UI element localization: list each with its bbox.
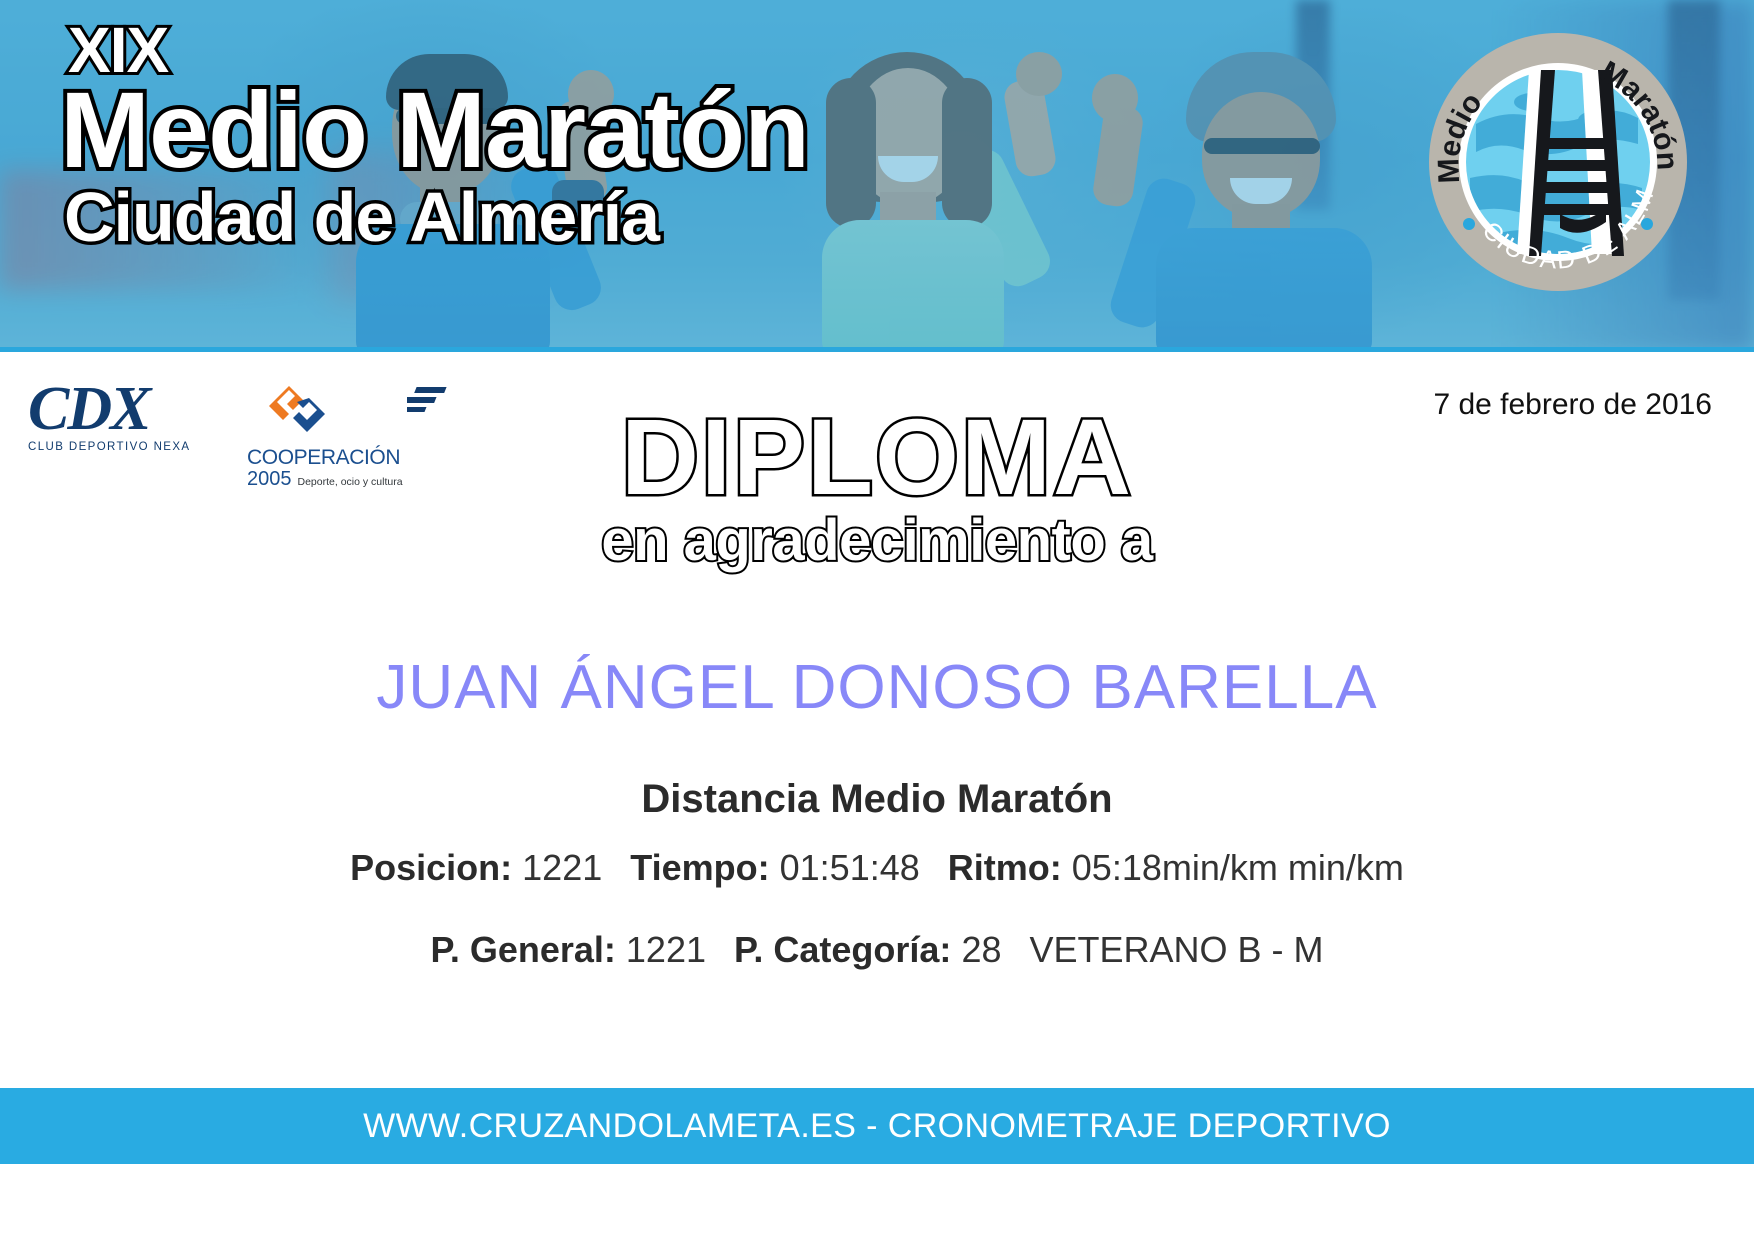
pace-value: 05:18min/km min/km	[1072, 847, 1404, 888]
category-position-label: P. Categoría:	[734, 929, 951, 970]
diploma-subtitle: en agradecimiento a	[0, 507, 1754, 574]
results-row-2: P. General: 1221 P. Categoría: 28 VETERA…	[0, 929, 1754, 971]
event-subtitle: Ciudad de Almería	[64, 182, 809, 252]
position-value: 1221	[522, 847, 602, 888]
diploma-body: CDX CLUB DEPORTIVO NEXA COOPERACIÓN 2005…	[0, 352, 1754, 1164]
header-banner: XVIIIMEDIO MARATÓN Ciudad de Almería 9 k…	[0, 0, 1754, 352]
results-row-1: Posicion: 1221 Tiempo: 01:51:48 Ritmo: 0…	[0, 847, 1754, 889]
event-title: Medio Maratón	[60, 76, 809, 184]
time-value: 01:51:48	[780, 847, 920, 888]
category-position-value: 28	[961, 929, 1001, 970]
athlete-name: JUAN ÁNGEL DONOSO BARELLA	[0, 652, 1754, 723]
diploma-page: XVIIIMEDIO MARATÓN Ciudad de Almería 9 k…	[0, 0, 1754, 1240]
footer-bar: WWW.CRUZANDOLAMETA.ES - CRONOMETRAJE DEP…	[0, 1088, 1754, 1164]
footer-url: WWW.CRUZANDOLAMETA.ES - CRONOMETRAJE DEP…	[363, 1107, 1391, 1146]
pace-label: Ritmo:	[948, 847, 1062, 888]
diploma-heading: DIPLOMA en agradecimiento a	[0, 400, 1754, 574]
general-position-value: 1221	[626, 929, 706, 970]
event-title-block: XIX Medio Maratón Ciudad de Almería	[60, 18, 809, 252]
diploma-title: DIPLOMA	[0, 400, 1754, 513]
distance-label: Distancia Medio Maratón	[0, 777, 1754, 822]
time-label: Tiempo:	[630, 847, 769, 888]
general-position-label: P. General:	[430, 929, 615, 970]
event-badge-logo: Medio Maratón CIUDAD DE ALMERIA	[1424, 28, 1692, 296]
results-block: Posicion: 1221 Tiempo: 01:51:48 Ritmo: 0…	[0, 847, 1754, 1011]
category-name-value: VETERANO B - M	[1030, 929, 1324, 970]
position-label: Posicion:	[350, 847, 512, 888]
header-divider	[0, 347, 1754, 352]
